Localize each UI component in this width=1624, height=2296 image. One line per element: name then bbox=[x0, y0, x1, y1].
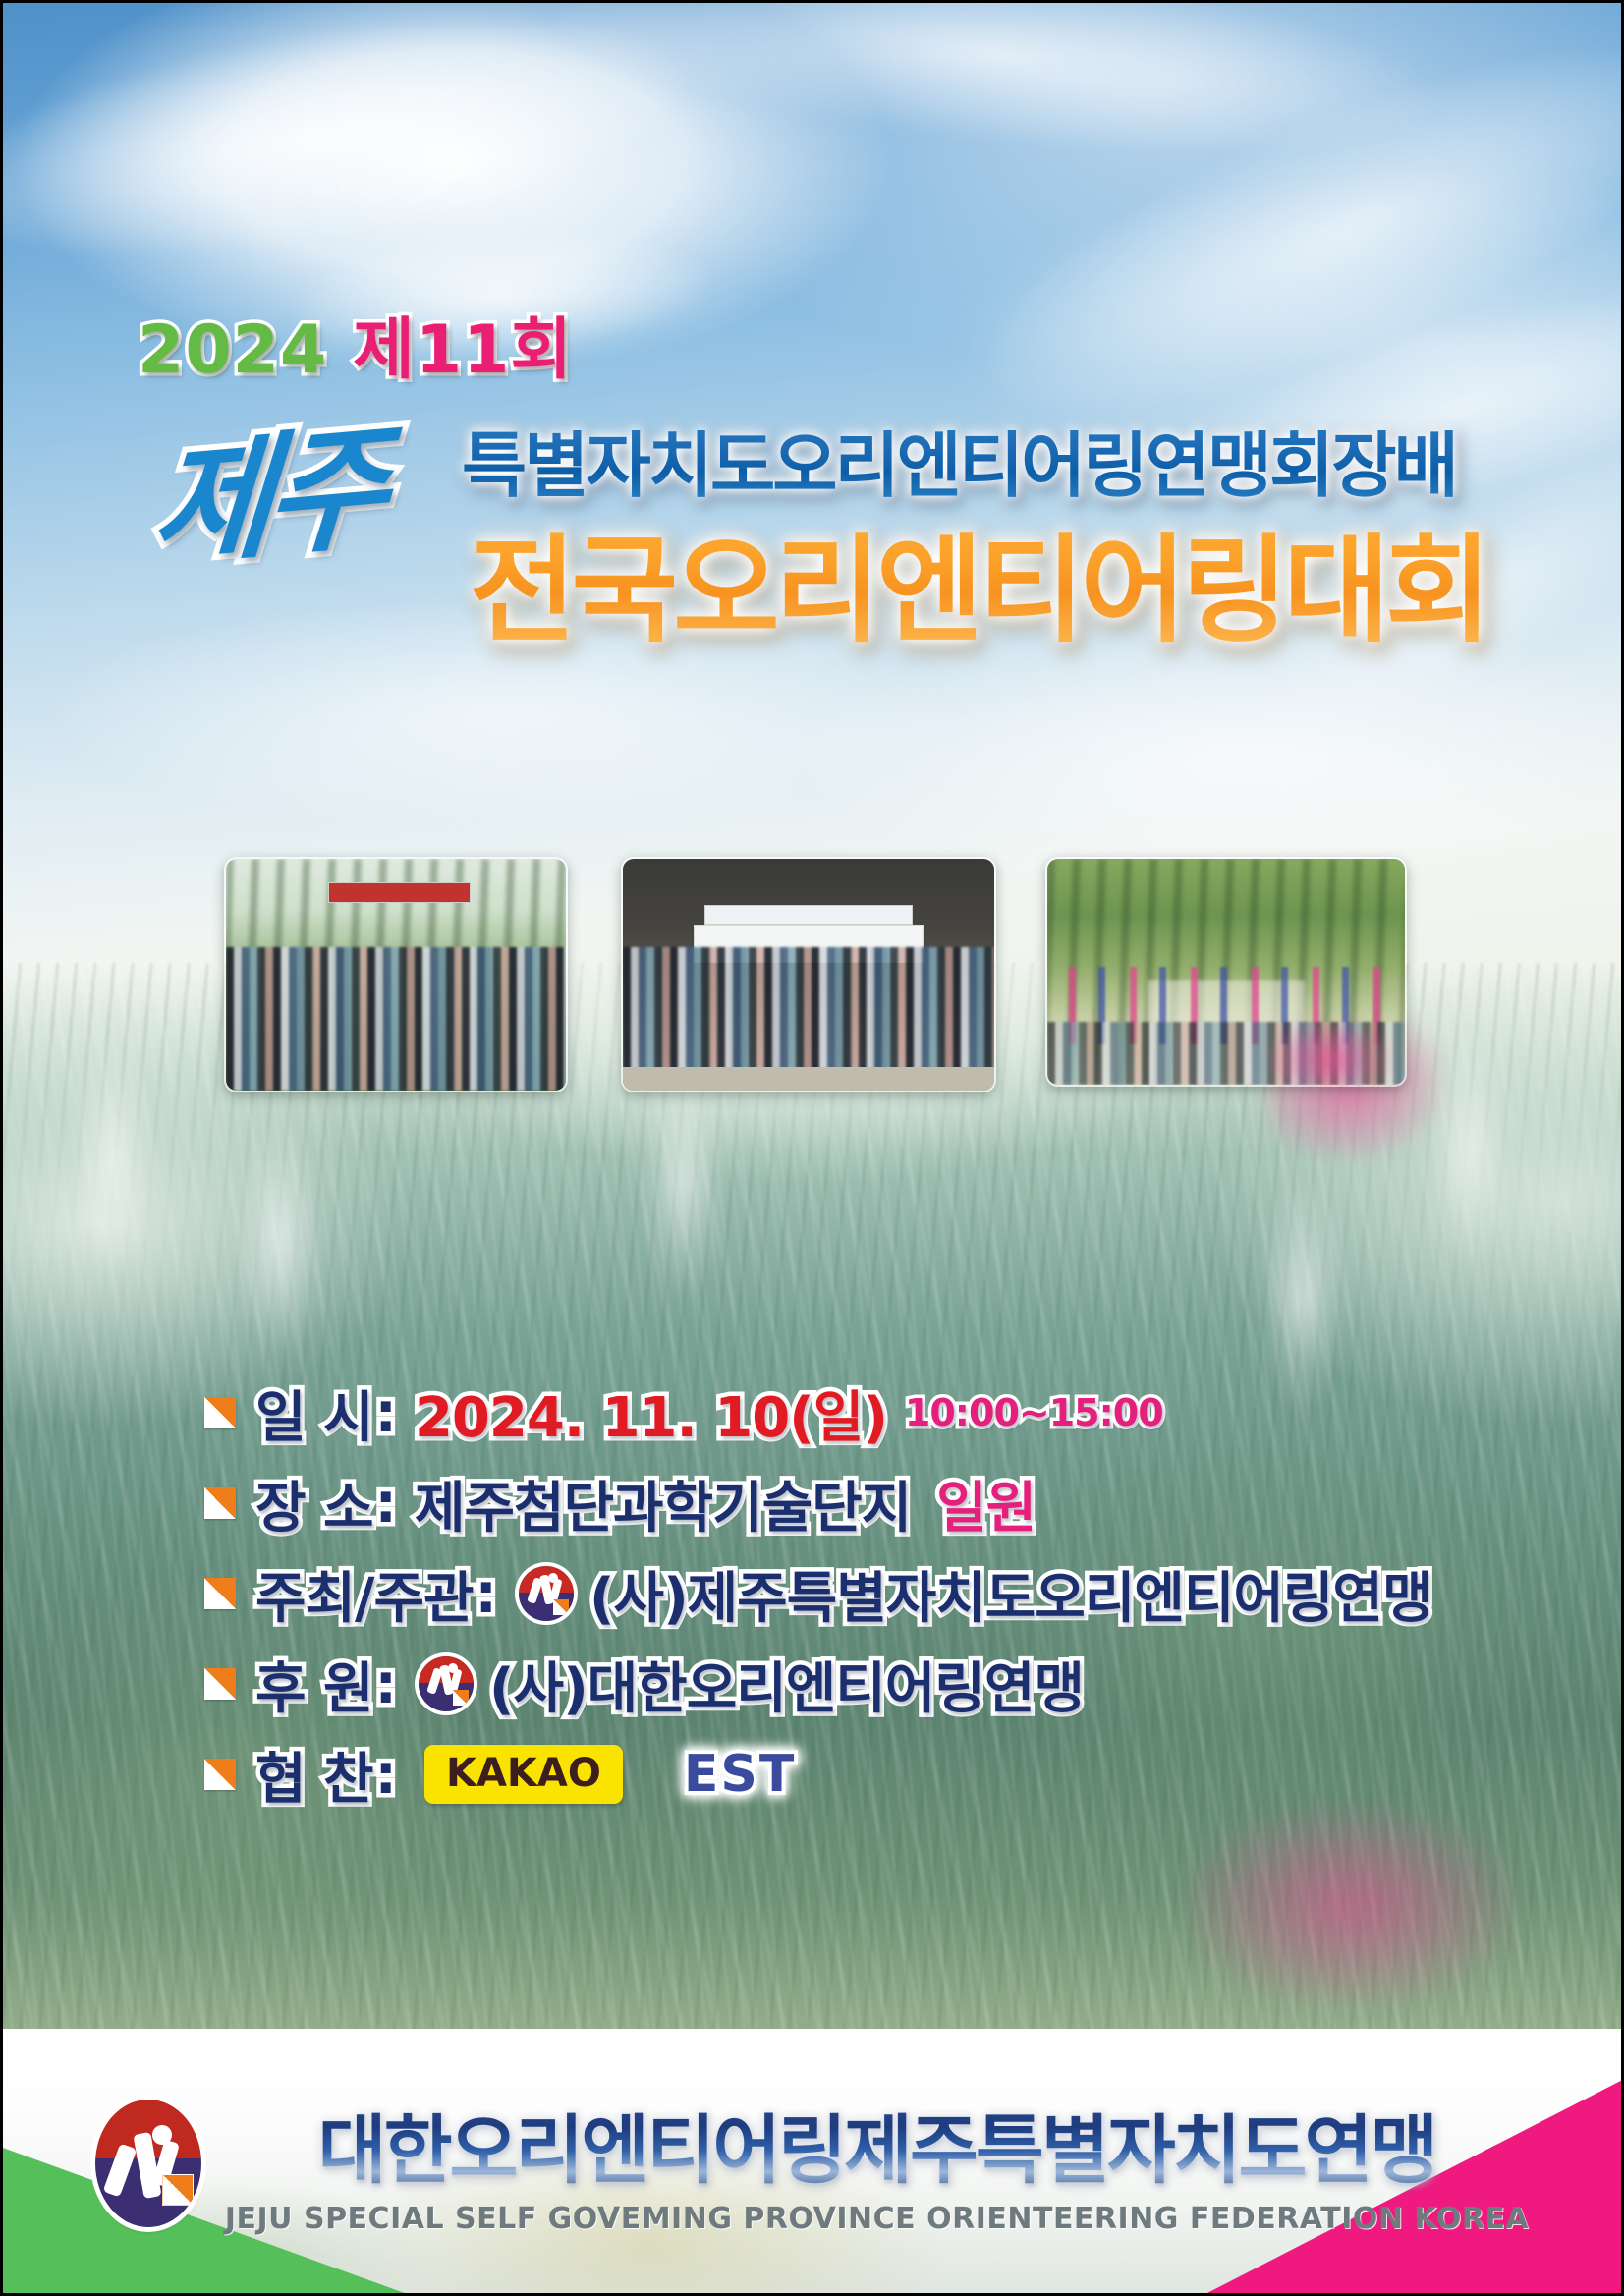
detail-colon: : bbox=[476, 1562, 497, 1626]
detail-colon: : bbox=[375, 1381, 397, 1445]
photo-strip bbox=[0, 857, 1624, 1102]
eyebrow-line: 2024제11회 bbox=[138, 295, 573, 392]
edition-text: 제11회 bbox=[353, 311, 573, 389]
detail-value-support: (사)대한오리엔티어링연맹 bbox=[489, 1645, 1084, 1724]
event-photo-group bbox=[621, 857, 996, 1092]
title-block: 2024제11회 제주 특별자치도오리엔티어링연맹회장배 전국오리엔티어링대회 bbox=[0, 0, 1624, 747]
detail-value-date: 2024. 11. 10(일) bbox=[415, 1373, 887, 1453]
control-flag-icon bbox=[204, 1487, 236, 1519]
photo-pink-blur bbox=[1269, 1022, 1391, 1087]
detail-value-time: 10:00~15:00 bbox=[905, 1391, 1163, 1434]
orienteering-federation-logo-icon bbox=[95, 2100, 201, 2227]
federation-name-korean: 대한오리엔티어링제주특별자치도연맹 bbox=[318, 2090, 1436, 2198]
detail-label-support: 후 원 bbox=[255, 1645, 373, 1724]
detail-row-support: 후 원 : (사)대한오리엔티어링연맹 bbox=[0, 1639, 1624, 1729]
detail-value-host: (사)제주특별자치도오리엔티어링연맹 bbox=[589, 1554, 1432, 1634]
detail-row-sponsors: 협 찬 : KAKAO EST bbox=[0, 1729, 1624, 1820]
photo-crowd bbox=[226, 947, 566, 1091]
orienteering-federation-logo-icon bbox=[419, 1656, 474, 1711]
orienteering-federation-logo-icon bbox=[519, 1566, 574, 1621]
federation-name-english: JEJU SPECIAL SELF GOVEMING PROVINCE ORIE… bbox=[225, 2202, 1529, 2236]
detail-colon: : bbox=[375, 1472, 397, 1536]
footer-band: 대한오리엔티어링제주특별자치도연맹 JEJU SPECIAL SELF GOVE… bbox=[0, 2029, 1624, 2296]
detail-row-venue: 장 소 : 제주첨단과학기술단지 일원 bbox=[0, 1458, 1624, 1548]
control-flag-icon bbox=[204, 1759, 236, 1790]
photo-banner bbox=[704, 905, 913, 925]
photo-banner bbox=[328, 882, 471, 903]
control-flag-icon bbox=[204, 1397, 236, 1428]
detail-label-date: 일 시 bbox=[255, 1373, 373, 1453]
control-flag-icon bbox=[204, 1668, 236, 1700]
detail-label-host: 주최/주관 bbox=[255, 1554, 474, 1634]
detail-value-venue: 제주첨단과학기술단지 bbox=[415, 1464, 911, 1543]
detail-colon: : bbox=[375, 1652, 397, 1716]
control-flag-icon bbox=[204, 1578, 236, 1609]
event-photo-course bbox=[1045, 857, 1407, 1087]
footer-identity: 대한오리엔티어링제주특별자치도연맹 JEJU SPECIAL SELF GOVE… bbox=[0, 2090, 1624, 2236]
detail-row-host: 주최/주관 : (사)제주특별자치도오리엔티어링연맹 bbox=[0, 1548, 1624, 1639]
event-photo-start-line bbox=[224, 857, 568, 1092]
event-details-list: 일 시 : 2024. 11. 10(일) 10:00~15:00 장 소 : … bbox=[0, 1368, 1624, 1820]
sponsor-logo-est: EST bbox=[684, 1745, 796, 1804]
detail-colon: : bbox=[375, 1743, 397, 1807]
photo-floor bbox=[623, 1067, 994, 1091]
jeju-brush-logo: 제주 bbox=[148, 420, 385, 574]
pink-cosmos-blur bbox=[1189, 1808, 1513, 2004]
detail-value-venue-suffix: 일원 bbox=[936, 1464, 1036, 1543]
control-flag-icon bbox=[453, 1690, 469, 1706]
detail-label-sponsors: 협 찬 bbox=[255, 1735, 373, 1815]
year-text: 2024 bbox=[138, 311, 327, 389]
detail-row-date: 일 시 : 2024. 11. 10(일) 10:00~15:00 bbox=[0, 1368, 1624, 1458]
control-flag-icon bbox=[162, 2174, 194, 2206]
poster-canvas: 2024제11회 제주 특별자치도오리엔티어링연맹회장배 전국오리엔티어링대회 bbox=[0, 0, 1624, 2296]
page-title: 전국오리엔티어링대회 bbox=[470, 496, 1487, 664]
control-flag-icon bbox=[553, 1599, 569, 1615]
detail-label-venue: 장 소 bbox=[255, 1464, 373, 1543]
footer-text-block: 대한오리엔티어링제주특별자치도연맹 JEJU SPECIAL SELF GOVE… bbox=[225, 2090, 1529, 2236]
sponsor-logo-kakao: KAKAO bbox=[424, 1745, 623, 1804]
